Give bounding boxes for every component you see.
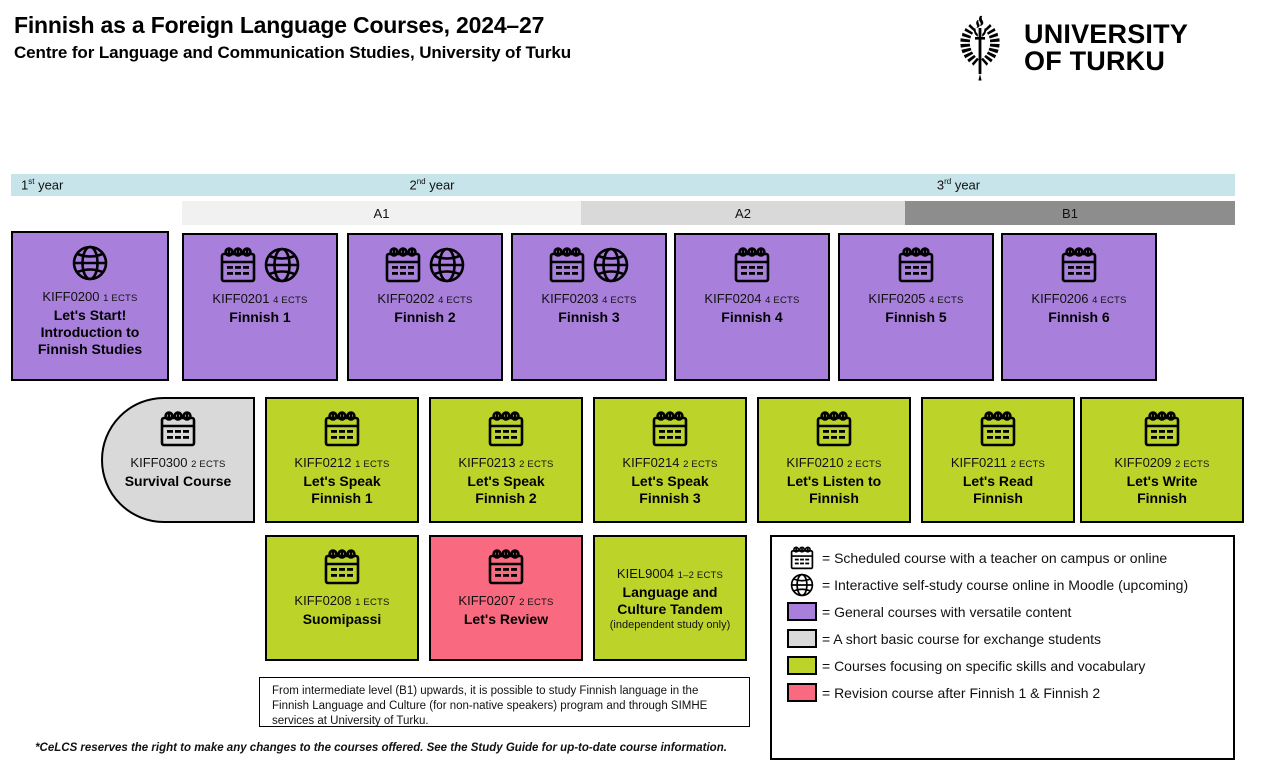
university-logo: UNIVERSITY OF TURKU <box>950 12 1188 84</box>
course-icons <box>322 543 362 591</box>
calendar-icon <box>547 245 587 285</box>
course-icons <box>383 241 467 289</box>
year-bar: 1st year2nd year3rd year <box>11 174 1235 196</box>
calendar-icon <box>1142 409 1182 449</box>
legend-color-swatch <box>782 656 822 675</box>
legend-row-6: = Revision course after Finnish 1 & Finn… <box>782 679 1223 706</box>
course-code: KIFF0208 1 ECTS <box>294 593 389 611</box>
course-ects: 4 ECTS <box>602 295 636 306</box>
legend-color-swatch <box>782 629 822 648</box>
course-code: KIFF0204 4 ECTS <box>704 291 799 309</box>
course-ects: 2 ECTS <box>847 459 881 470</box>
legend-label: = A short basic course for exchange stud… <box>822 631 1101 647</box>
course-ects: 4 ECTS <box>273 295 307 306</box>
course-title: Language andCulture Tandem <box>613 584 727 618</box>
course-code: KIFF0213 2 ECTS <box>458 455 553 473</box>
course-code: KIFF0300 2 ECTS <box>130 455 225 473</box>
level-label-b1: B1 <box>905 201 1235 225</box>
calendar-icon <box>978 409 1018 449</box>
calendar-icon <box>782 545 822 571</box>
calendar-icon <box>814 409 854 449</box>
course-card-kiff0206[interactable]: KIFF0206 4 ECTSFinnish 6 <box>1001 233 1157 381</box>
course-icons <box>70 239 110 287</box>
course-card-kiff0203[interactable]: KIFF0203 4 ECTSFinnish 3 <box>511 233 667 381</box>
course-ects: 4 ECTS <box>929 295 963 306</box>
course-ects: 1 ECTS <box>355 597 389 608</box>
calendar-icon <box>322 547 362 587</box>
course-title: Finnish 3 <box>554 309 623 326</box>
course-ects: 4 ECTS <box>438 295 472 306</box>
note-box: From intermediate level (B1) upwards, it… <box>259 677 750 727</box>
course-code: KIFF0212 1 ECTS <box>294 455 389 473</box>
course-code: KIFF0207 2 ECTS <box>458 593 553 611</box>
level-bar: A1A2B1 <box>0 201 1280 225</box>
course-card-kiff0208[interactable]: KIFF0208 1 ECTSSuomipassi <box>265 535 419 661</box>
logo-wordmark: UNIVERSITY OF TURKU <box>1024 21 1188 75</box>
course-icons <box>218 241 302 289</box>
course-card-kiff0201[interactable]: KIFF0201 4 ECTSFinnish 1 <box>182 233 338 381</box>
calendar-icon <box>158 409 198 449</box>
level-label-a1: A1 <box>182 201 581 225</box>
course-ects: 2 ECTS <box>191 459 225 470</box>
course-card-kiff0204[interactable]: KIFF0204 4 ECTSFinnish 4 <box>674 233 830 381</box>
globe-icon <box>782 572 822 598</box>
course-card-kiff0214[interactable]: KIFF0214 2 ECTSLet's SpeakFinnish 3 <box>593 397 747 523</box>
course-code: KIFF0200 1 ECTS <box>42 289 137 307</box>
calendar-icon <box>1059 245 1099 285</box>
course-icons <box>322 405 362 453</box>
course-card-kiff0200[interactable]: KIFF0200 1 ECTSLet's Start!Introduction … <box>11 231 169 381</box>
globe-icon <box>591 245 631 285</box>
course-ects: 2 ECTS <box>519 459 553 470</box>
year-label-2: 2nd year <box>182 174 682 196</box>
legend-label: = General courses with versatile content <box>822 604 1071 620</box>
course-code: KIEL9004 1–2 ECTS <box>617 566 723 584</box>
legend-row-3: = General courses with versatile content <box>782 598 1223 625</box>
legend-label: = Courses focusing on specific skills an… <box>822 658 1145 674</box>
course-title: Finnish 1 <box>225 309 294 326</box>
course-title: Finnish 6 <box>1044 309 1113 326</box>
course-icons <box>732 241 772 289</box>
course-code: KIFF0205 4 ECTS <box>868 291 963 309</box>
course-card-kiff0205[interactable]: KIFF0205 4 ECTSFinnish 5 <box>838 233 994 381</box>
course-code: KIFF0211 2 ECTS <box>951 455 1045 473</box>
course-code: KIFF0209 2 ECTS <box>1114 455 1209 473</box>
course-code: KIFF0203 4 ECTS <box>541 291 636 309</box>
calendar-icon <box>650 409 690 449</box>
course-title: Finnish 2 <box>390 309 459 326</box>
legend-color-swatch <box>782 602 822 621</box>
course-code: KIFF0202 4 ECTS <box>377 291 472 309</box>
course-card-kiel9004[interactable]: KIEL9004 1–2 ECTSLanguage andCulture Tan… <box>593 535 747 661</box>
course-title: Suomipassi <box>299 611 386 628</box>
page-header: Finnish as a Foreign Language Courses, 2… <box>0 0 1280 100</box>
course-ects: 2 ECTS <box>1175 459 1209 470</box>
year-label-1: 1st year <box>11 174 182 196</box>
course-ects: 1 ECTS <box>103 293 137 304</box>
course-icons <box>486 405 526 453</box>
course-card-kiff0209[interactable]: KIFF0209 2 ECTSLet's WriteFinnish <box>1080 397 1244 523</box>
course-title: Let's ReadFinnish <box>959 473 1037 507</box>
legend-label: = Interactive self-study course online i… <box>822 577 1188 593</box>
page-subtitle: Centre for Language and Communication St… <box>14 40 571 66</box>
course-icons <box>896 241 936 289</box>
course-title: Let's SpeakFinnish 1 <box>299 473 384 507</box>
course-ects: 1–2 ECTS <box>678 570 723 581</box>
course-card-kiff0202[interactable]: KIFF0202 4 ECTSFinnish 2 <box>347 233 503 381</box>
course-icons <box>650 405 690 453</box>
course-icons <box>814 405 854 453</box>
course-title: Finnish 5 <box>881 309 950 326</box>
course-title: Survival Course <box>121 473 236 490</box>
course-title: Finnish 4 <box>717 309 786 326</box>
course-icons <box>547 241 631 289</box>
course-ects: 4 ECTS <box>1092 295 1126 306</box>
course-icons <box>158 405 198 453</box>
calendar-icon <box>486 547 526 587</box>
course-title: Let's Review <box>460 611 552 628</box>
course-icons <box>978 405 1018 453</box>
calendar-icon <box>896 245 936 285</box>
course-icons <box>1059 241 1099 289</box>
course-code: KIFF0214 2 ECTS <box>622 455 717 473</box>
calendar-icon <box>218 245 258 285</box>
calendar-icon <box>486 409 526 449</box>
logo-line-1: UNIVERSITY <box>1024 21 1188 48</box>
legend-row-2: = Interactive self-study course online i… <box>782 571 1223 598</box>
course-icons <box>1142 405 1182 453</box>
course-title: Let's SpeakFinnish 3 <box>627 473 712 507</box>
level-label-a2: A2 <box>581 201 905 225</box>
legend-label: = Revision course after Finnish 1 & Finn… <box>822 685 1100 701</box>
course-code: KIFF0201 4 ECTS <box>212 291 307 309</box>
course-code: KIFF0210 2 ECTS <box>786 455 881 473</box>
legend-row-1: = Scheduled course with a teacher on cam… <box>782 544 1223 571</box>
page-title: Finnish as a Foreign Language Courses, 2… <box>14 10 571 40</box>
course-note: (independent study only) <box>610 618 730 632</box>
disclaimer-text: *CeLCS reserves the right to make any ch… <box>0 742 762 754</box>
torch-wreath-emblem-icon <box>950 12 1010 84</box>
course-ects: 4 ECTS <box>765 295 799 306</box>
globe-icon <box>262 245 302 285</box>
calendar-icon <box>322 409 362 449</box>
legend-color-swatch <box>782 683 822 702</box>
legend-box: = Scheduled course with a teacher on cam… <box>770 535 1235 760</box>
course-title: Let's WriteFinnish <box>1123 473 1202 507</box>
course-card-kiff0212[interactable]: KIFF0212 1 ECTSLet's SpeakFinnish 1 <box>265 397 419 523</box>
course-card-kiff0300[interactable]: KIFF0300 2 ECTSSurvival Course <box>101 397 255 523</box>
legend-row-4: = A short basic course for exchange stud… <box>782 625 1223 652</box>
legend-row-5: = Courses focusing on specific skills an… <box>782 652 1223 679</box>
course-icons <box>486 543 526 591</box>
course-card-kiff0210[interactable]: KIFF0210 2 ECTSLet's Listen toFinnish <box>757 397 911 523</box>
globe-icon <box>427 245 467 285</box>
logo-line-2: OF TURKU <box>1024 48 1188 75</box>
course-ects: 1 ECTS <box>355 459 389 470</box>
course-card-kiff0207[interactable]: KIFF0207 2 ECTSLet's Review <box>429 535 583 661</box>
course-title: Let's Listen toFinnish <box>783 473 885 507</box>
legend-label: = Scheduled course with a teacher on cam… <box>822 550 1167 566</box>
calendar-icon <box>732 245 772 285</box>
course-ects: 2 ECTS <box>519 597 553 608</box>
title-block: Finnish as a Foreign Language Courses, 2… <box>14 10 571 66</box>
year-label-3: 3rd year <box>682 174 1235 196</box>
course-ects: 2 ECTS <box>683 459 717 470</box>
course-card-kiff0211[interactable]: KIFF0211 2 ECTSLet's ReadFinnish <box>921 397 1075 523</box>
course-title: Let's Start!Introduction toFinnish Studi… <box>34 307 146 358</box>
course-title: Let's SpeakFinnish 2 <box>463 473 548 507</box>
course-ects: 2 ECTS <box>1011 459 1045 470</box>
course-card-kiff0213[interactable]: KIFF0213 2 ECTSLet's SpeakFinnish 2 <box>429 397 583 523</box>
globe-icon <box>70 243 110 283</box>
calendar-icon <box>383 245 423 285</box>
course-code: KIFF0206 4 ECTS <box>1031 291 1126 309</box>
